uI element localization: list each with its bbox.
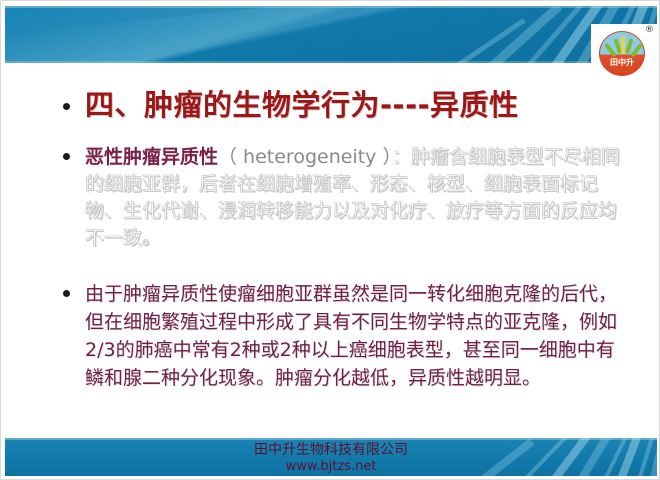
slide: ® 田中升 四、肿瘤的生物学行为----异质性 恶性肿瘤异质性（ heterog… (0, 0, 660, 480)
bullet-row-subclone: 由于肿瘤异质性使瘤细胞亚群虽然是同一转化细胞克隆的后代，但在细胞繁殖过程中形成了… (1, 280, 660, 392)
slide-title-row: 四、肿瘤的生物学行为----异质性 (1, 87, 660, 123)
page-title: 四、肿瘤的生物学行为----异质性 (85, 87, 625, 123)
bullet-marker-title (63, 103, 70, 110)
footer-company-name: 田中升生物科技有限公司 (5, 442, 657, 459)
bullet-marker-1 (63, 153, 70, 160)
term-latin-heterogeneity: （ heterogeneity ） (218, 146, 392, 168)
bullet-marker-2 (63, 290, 70, 297)
leaf-icon-right (630, 43, 642, 57)
slide-content: 四、肿瘤的生物学行为----异质性 恶性肿瘤异质性（ heterogeneity… (1, 73, 660, 392)
banner-bottom-edge (5, 61, 657, 63)
top-banner (5, 6, 657, 63)
bullet-paragraph-1: 恶性肿瘤异质性（ heterogeneity ）：肿瘤含细胞表型不尽相同的细胞亚… (85, 144, 625, 252)
footer-text-block: 田中升生物科技有限公司 www.bjtzs.net (5, 438, 657, 475)
company-logo: ® 田中升 (591, 24, 658, 82)
footer-banner: 田中升生物科技有限公司 www.bjtzs.net (5, 438, 657, 476)
logo-mark-text: 田中升 (600, 58, 644, 68)
term-malignant-heterogeneity: 恶性肿瘤异质性 (85, 146, 218, 168)
bullet-1-first-line-tail: ：肿瘤含细胞表型 (392, 146, 544, 168)
registered-trademark-icon: ® (645, 25, 654, 35)
bullet-paragraph-2: 由于肿瘤异质性使瘤细胞亚群虽然是同一转化细胞克隆的后代，但在细胞繁殖过程中形成了… (85, 280, 625, 392)
footer-website-url[interactable]: www.bjtzs.net (5, 459, 657, 475)
bullet-row-heterogeneity: 恶性肿瘤异质性（ heterogeneity ）：肿瘤含细胞表型不尽相同的细胞亚… (1, 144, 660, 252)
logo-oval-icon: 田中升 (599, 31, 645, 76)
